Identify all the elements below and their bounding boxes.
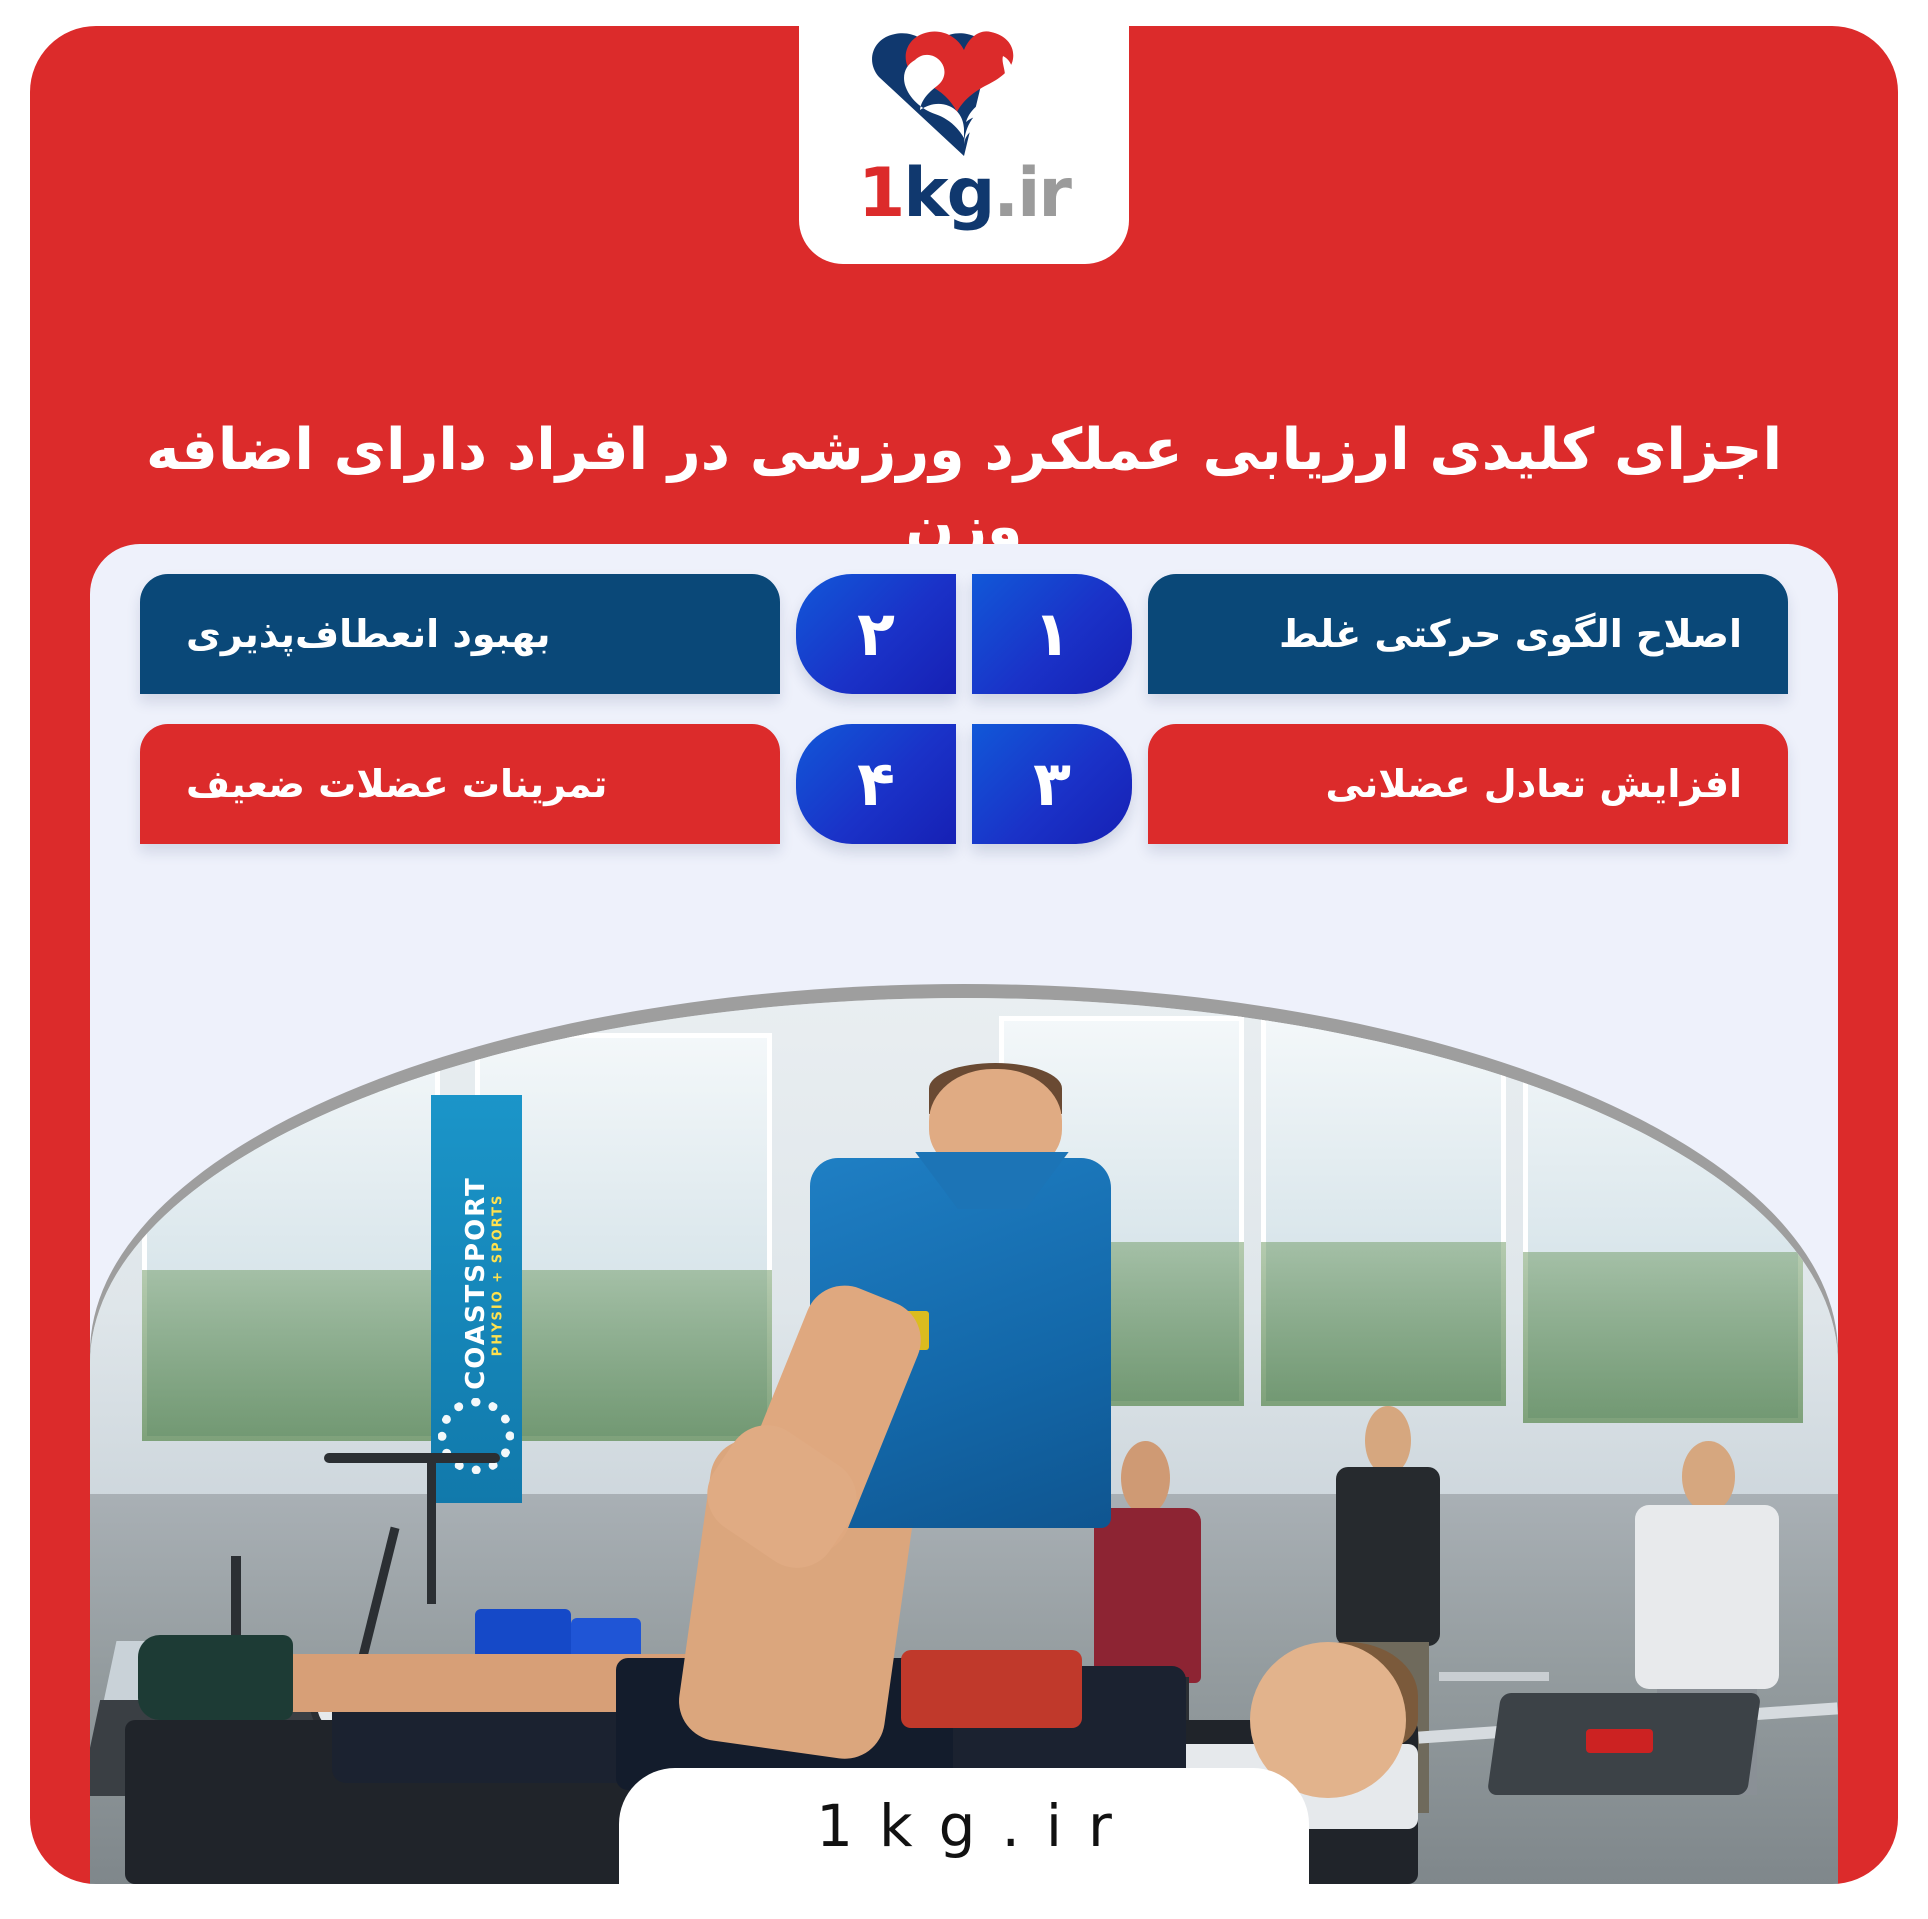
rower-red-accent <box>1586 1729 1653 1753</box>
banner-sub-text: PHYSIO + SPORTS <box>491 1193 506 1356</box>
brand-wordmark: 1kg.ir <box>858 160 1070 228</box>
item-badge-4: ۴ <box>796 724 956 844</box>
item-box-1[interactable]: اصلاح الگوی حرکتی غلط <box>1148 574 1788 694</box>
items-grid: اصلاح الگوی حرکتی غلط ۱ ۲ بهبود انعطاف‌پ… <box>140 574 1788 844</box>
item-number-2: ۲ <box>857 603 895 665</box>
item-number-3: ۳ <box>1033 753 1071 815</box>
poster-panel: 1kg.ir اجزای کلیدی ارزیابی عملکرد ورزشی … <box>30 26 1898 1884</box>
item-label-2: بهبود انعطاف‌پذیری <box>186 612 551 656</box>
bg2-head <box>1365 1406 1410 1475</box>
item-box-4[interactable]: تمرینات عضلات ضعیف <box>140 724 780 844</box>
wordmark-1: 1 <box>858 154 903 233</box>
window-1 <box>142 1033 439 1441</box>
gym-scene: COASTSPORT PHYSIO + SPORTS <box>90 998 1838 1884</box>
item-box-3[interactable]: افزایش تعادل عضلانی <box>1148 724 1788 844</box>
item-label-4: تمرینات عضلات ضعیف <box>186 762 607 806</box>
window-5 <box>1523 1016 1803 1424</box>
wordmark-ir: ir <box>1017 154 1070 233</box>
page-title: اجزای کلیدی ارزیابی عملکرد ورزشی در افرا… <box>30 412 1898 566</box>
item-label-3: افزایش تعادل عضلانی <box>1326 762 1742 806</box>
item-badge-3: ۳ <box>972 724 1132 844</box>
photo-arch-border: COASTSPORT PHYSIO + SPORTS <box>90 984 1838 1884</box>
content-card: اصلاح الگوی حرکتی غلط ۱ ۲ بهبود انعطاف‌پ… <box>90 544 1838 1884</box>
item-badge-2: ۲ <box>796 574 956 694</box>
item-box-2[interactable]: بهبود انعطاف‌پذیری <box>140 574 780 694</box>
window-greenery-1 <box>142 1270 439 1441</box>
footer-url-text: 1kg.ir <box>790 1792 1138 1860</box>
footer-url-tab: 1kg.ir <box>619 1768 1309 1884</box>
banner-brand-text: COASTSPORT <box>461 1176 491 1390</box>
therapist-figure <box>789 1069 1139 1707</box>
wordmark-dot: . <box>993 154 1017 233</box>
window-greenery-5 <box>1523 1252 1803 1423</box>
item-badge-1: ۱ <box>972 574 1132 694</box>
bg3-head <box>1682 1441 1735 1512</box>
window-greenery-4 <box>1261 1242 1506 1406</box>
window-4 <box>1261 1016 1506 1406</box>
bike-handlebar <box>324 1453 500 1463</box>
photo-region: COASTSPORT PHYSIO + SPORTS <box>90 984 1838 1884</box>
wordmark-kg: kg <box>903 154 993 233</box>
brand-logo-notch: 1kg.ir <box>799 26 1129 264</box>
gym-photo: COASTSPORT PHYSIO + SPORTS <box>90 998 1838 1884</box>
patient-shoe-extended <box>138 1635 293 1721</box>
item-number-1: ۱ <box>1033 603 1071 665</box>
rower-handle <box>1439 1672 1548 1681</box>
heart-bicep-icon <box>871 30 1057 158</box>
item-number-4: ۴ <box>857 753 895 815</box>
rowing-machine <box>1418 1512 1838 1813</box>
item-label-1: اصلاح الگوی حرکتی غلط <box>1279 612 1742 656</box>
